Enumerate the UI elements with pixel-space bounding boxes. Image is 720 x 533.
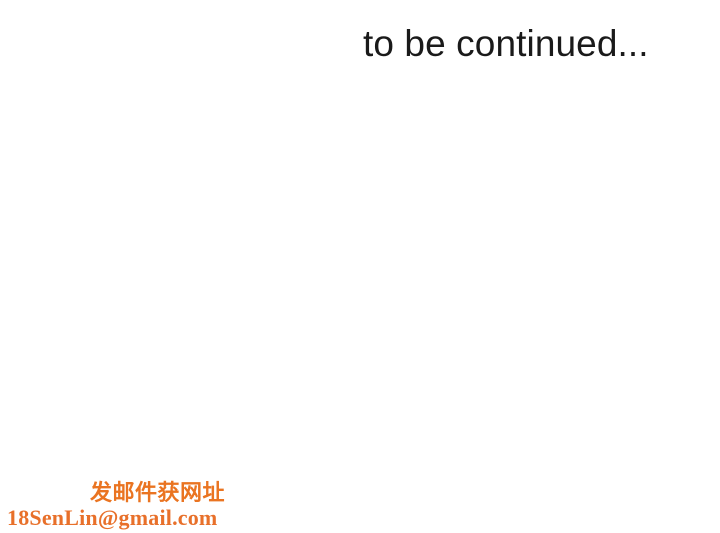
page-title: to be continued... [363,21,693,67]
slide-canvas: to be continued... 发邮件获网址 18SenLin@gmail… [0,0,720,533]
watermark-email-text: 18SenLin@gmail.com [0,505,260,531]
watermark-chinese-text: 发邮件获网址 [0,481,260,505]
watermark: 发邮件获网址 18SenLin@gmail.com [0,481,260,531]
